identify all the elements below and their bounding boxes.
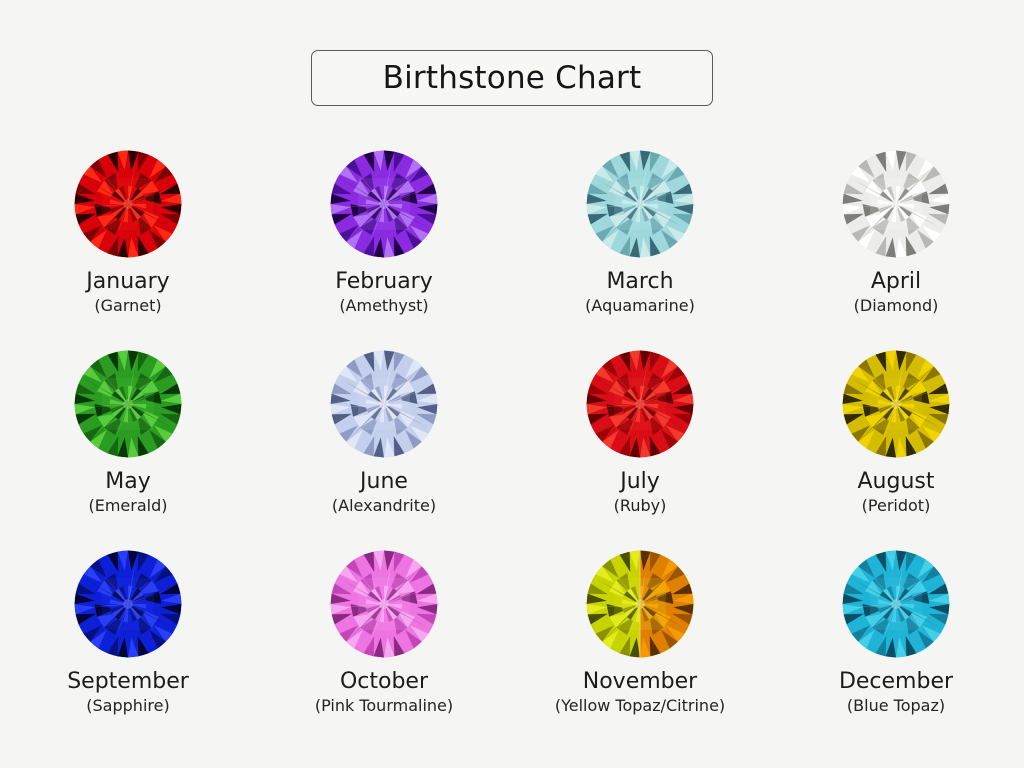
stone-name-label: (Blue Topaz) <box>847 698 945 715</box>
birthstone-cell-april: April(Diamond) <box>768 134 1024 334</box>
gem-icon <box>842 150 950 258</box>
stone-name-label: (Alexandrite) <box>332 498 436 515</box>
month-label: March <box>606 270 673 293</box>
stone-name-label: (Garnet) <box>94 298 161 315</box>
birthstone-cell-january: January(Garnet) <box>0 134 256 334</box>
birthstone-cell-december: December(Blue Topaz) <box>768 534 1024 734</box>
stone-name-label: (Sapphire) <box>86 698 169 715</box>
birthstone-cell-february: February(Amethyst) <box>256 134 512 334</box>
chart-title-box: Birthstone Chart <box>311 50 713 106</box>
month-label: November <box>583 670 697 693</box>
gem-icon <box>74 550 182 658</box>
page-title: Birthstone Chart <box>383 63 642 94</box>
stone-name-label: (Emerald) <box>88 498 167 515</box>
month-label: December <box>839 670 953 693</box>
gem-icon <box>330 350 438 458</box>
gem-icon <box>842 350 950 458</box>
gem-illustration <box>586 350 694 458</box>
birthstone-cell-october: October(Pink Tourmaline) <box>256 534 512 734</box>
gem-icon <box>586 550 694 658</box>
stone-name-label: (Ruby) <box>614 498 667 515</box>
month-label: October <box>340 670 428 693</box>
gem-icon <box>74 350 182 458</box>
month-label: May <box>105 470 150 493</box>
stone-name-label: (Amethyst) <box>339 298 428 315</box>
gem-icon <box>330 150 438 258</box>
gem-illustration <box>330 550 438 658</box>
month-label: January <box>86 270 169 293</box>
gem-illustration <box>842 350 950 458</box>
gem-illustration <box>330 150 438 258</box>
month-label: April <box>871 270 921 293</box>
birthstone-cell-november: November(Yellow Topaz/Citrine) <box>512 534 768 734</box>
birthstone-cell-june: June(Alexandrite) <box>256 334 512 534</box>
gem-icon <box>586 350 694 458</box>
gem-icon <box>330 550 438 658</box>
stone-name-label: (Diamond) <box>854 298 939 315</box>
gem-illustration <box>586 550 694 658</box>
birthstone-grid: January(Garnet)February(Amethyst)March(A… <box>0 134 1024 734</box>
stone-name-label: (Yellow Topaz/Citrine) <box>555 698 725 715</box>
stone-name-label: (Aquamarine) <box>585 298 695 315</box>
birthstone-cell-july: July(Ruby) <box>512 334 768 534</box>
gem-illustration <box>74 550 182 658</box>
gem-illustration <box>74 350 182 458</box>
month-label: September <box>67 670 189 693</box>
gem-illustration <box>74 150 182 258</box>
gem-illustration <box>330 350 438 458</box>
gem-icon <box>842 550 950 658</box>
stone-name-label: (Peridot) <box>862 498 931 515</box>
month-label: August <box>858 470 935 493</box>
month-label: June <box>360 470 408 493</box>
gem-icon <box>74 150 182 258</box>
birthstone-cell-may: May(Emerald) <box>0 334 256 534</box>
gem-icon <box>586 150 694 258</box>
birthstone-cell-august: August(Peridot) <box>768 334 1024 534</box>
gem-illustration <box>586 150 694 258</box>
month-label: February <box>335 270 433 293</box>
month-label: July <box>620 470 660 493</box>
birthstone-cell-september: September(Sapphire) <box>0 534 256 734</box>
gem-illustration <box>842 550 950 658</box>
stone-name-label: (Pink Tourmaline) <box>315 698 453 715</box>
birthstone-cell-march: March(Aquamarine) <box>512 134 768 334</box>
gem-illustration <box>842 150 950 258</box>
